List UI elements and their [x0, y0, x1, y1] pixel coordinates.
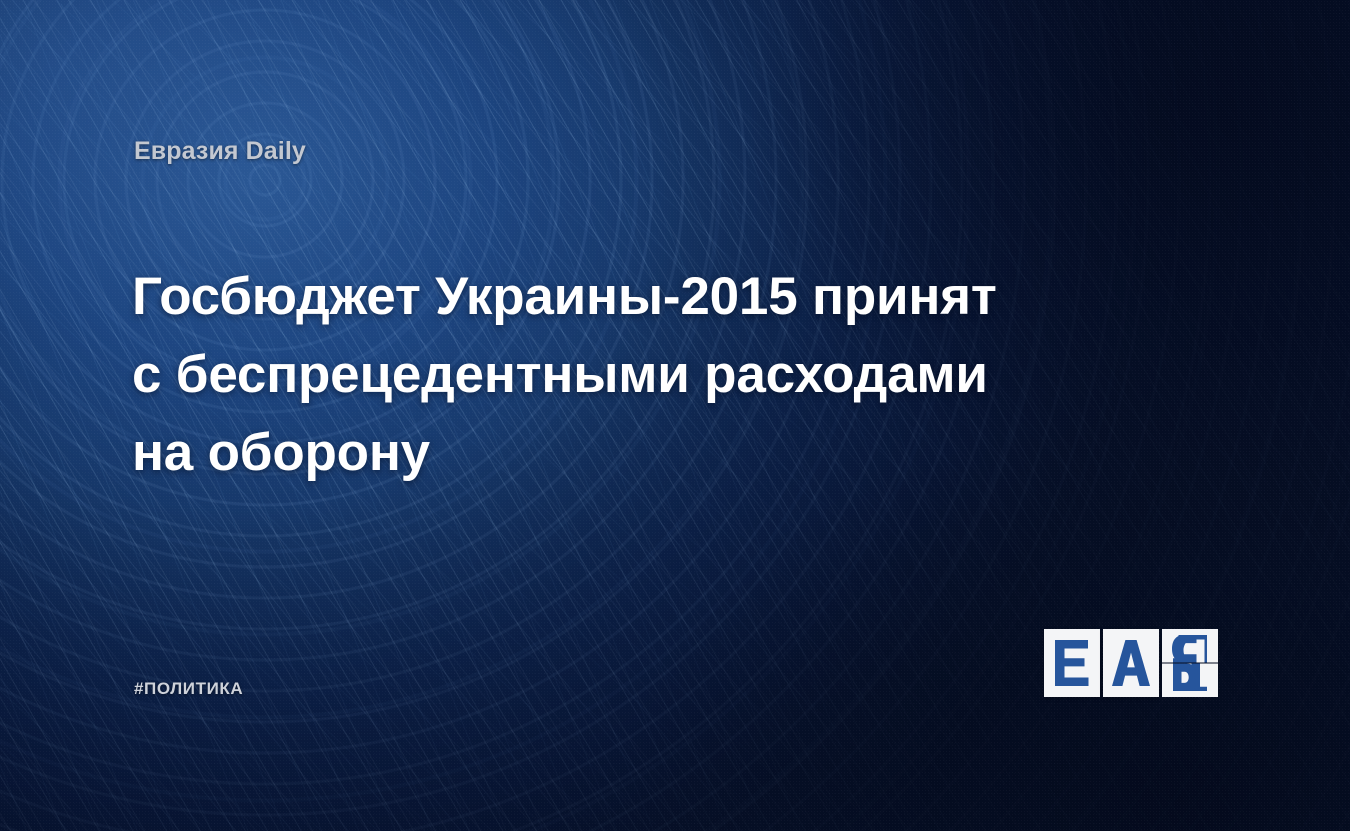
page-title: Госбюджет Украины-2015 принят с беспреце… [132, 258, 1092, 492]
eadaily-logo[interactable] [1044, 629, 1218, 697]
brand-name: Евразия Daily [134, 137, 306, 166]
headline-line-2: с беспрецедентными расходами [132, 336, 1092, 414]
logo-tile-d [1162, 629, 1218, 697]
logo-tile-e [1044, 629, 1100, 697]
news-hero-card: Евразия Daily Госбюджет Украины-2015 при… [0, 0, 1350, 831]
card-content: Евразия Daily Госбюджет Украины-2015 при… [0, 0, 1350, 831]
category-tag[interactable]: #ПОЛИТИКА [134, 679, 243, 699]
logo-tile-a [1103, 629, 1159, 697]
headline-line-3: на оборону [132, 414, 1092, 492]
headline-line-1: Госбюджет Украины-2015 принят [132, 258, 1092, 336]
